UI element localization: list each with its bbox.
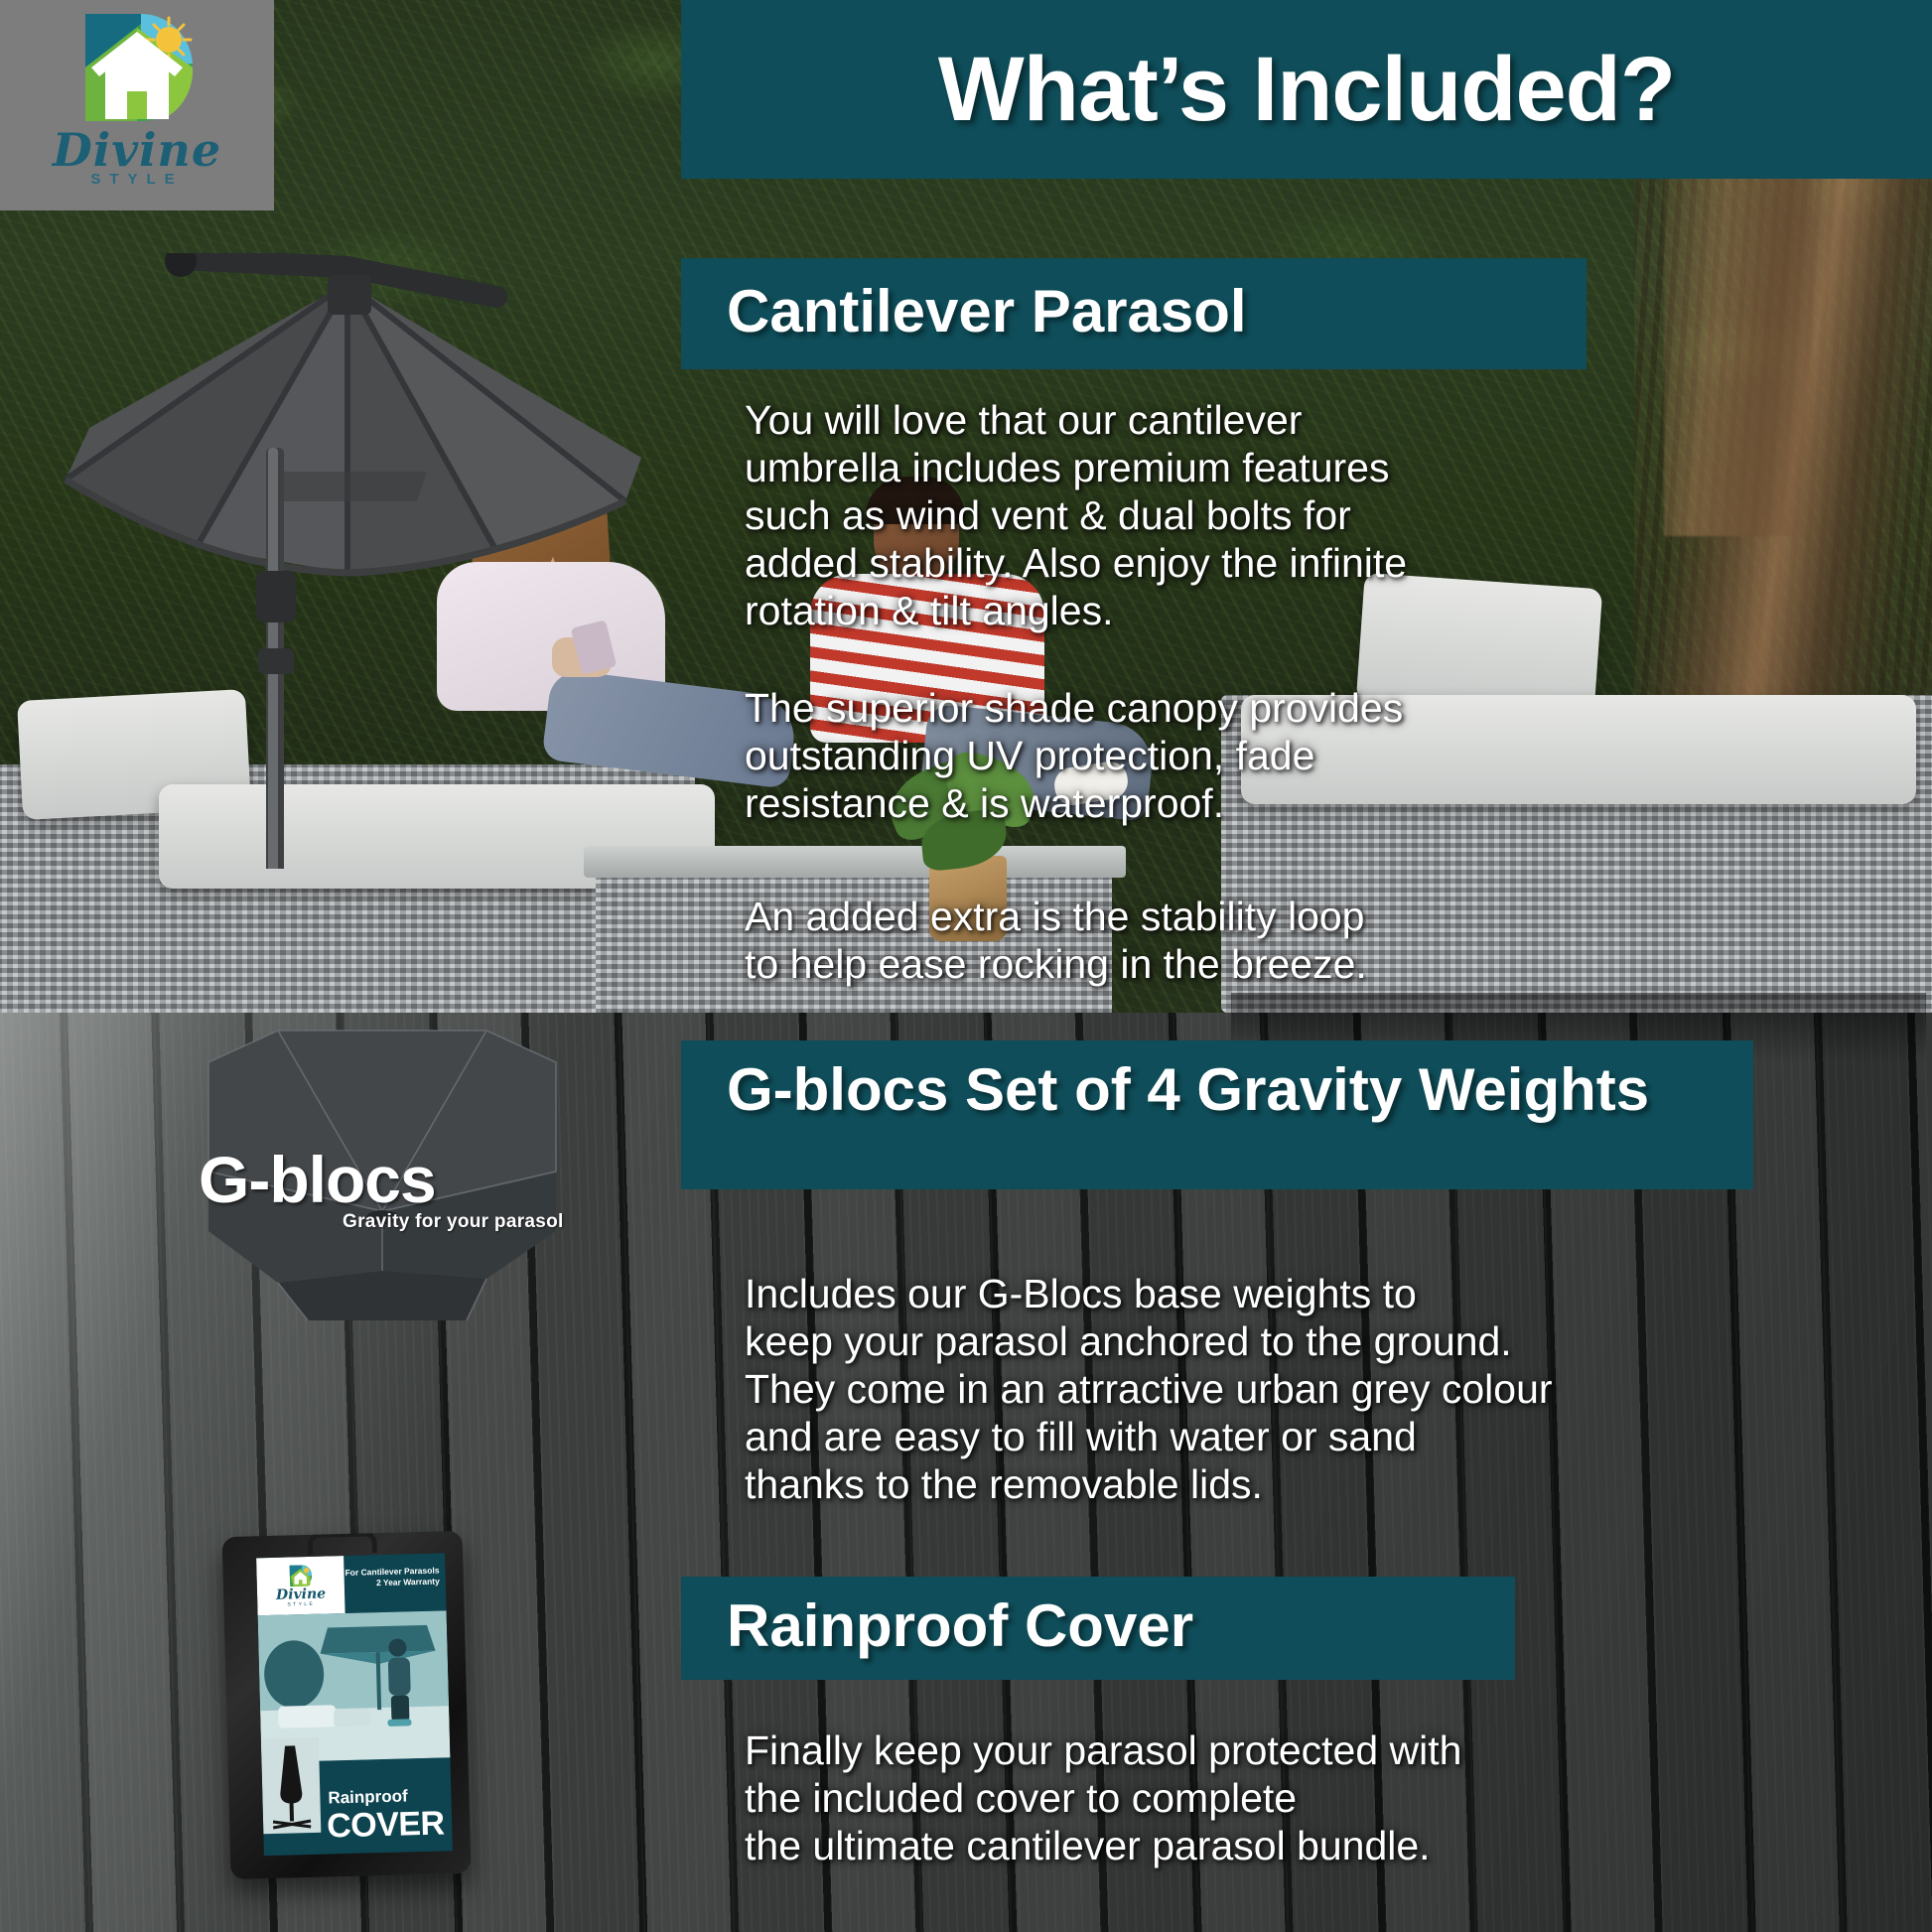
section-body-cantilever-parasol-p1: You will love that our cantilever umbrel… [745, 397, 1797, 635]
brand-logo-block: Divine STYLE [0, 0, 274, 210]
section-body-cantilever-parasol-p3: An added extra is the stability loop to … [745, 894, 1797, 989]
section-heading-g-blocs: G-blocs Set of 4 Gravity Weights [681, 1040, 1753, 1189]
page-title: What’s Included? [938, 38, 1675, 142]
rainproof-cover-bag-product: Divine STYLE For Cantilever Parasols 2 Y… [222, 1531, 472, 1879]
g-blocs-gravity-weights-product: G-blocs Gravity for your parasol [129, 1023, 635, 1360]
bag-brand-logo: Divine STYLE [256, 1556, 345, 1615]
divine-d-icon-small [286, 1564, 315, 1588]
section-heading-text: G-blocs Set of 4 Gravity Weights [727, 1058, 1649, 1123]
section-heading-rainproof-cover: Rainproof Cover [681, 1577, 1515, 1680]
bag-label-large: COVER [327, 1804, 445, 1846]
section-heading-text: Rainproof Cover [727, 1594, 1193, 1659]
title-band: What’s Included? [681, 0, 1932, 179]
bag-label: Divine STYLE For Cantilever Parasols 2 Y… [256, 1553, 453, 1856]
bag-brand-tagline: STYLE [287, 1601, 315, 1608]
parasol-canopy-svg [30, 253, 685, 869]
bag-warranty-text: For Cantilever Parasols 2 Year Warranty [345, 1566, 439, 1589]
bag-handle [307, 1531, 377, 1555]
section-heading-cantilever-parasol: Cantilever Parasol [681, 258, 1587, 369]
bag-cover-thumbnail [261, 1737, 321, 1834]
infographic-page: G-blocs Gravity for your parasol Divine … [0, 0, 1932, 1932]
bag-brand-name: Divine [276, 1587, 326, 1602]
g-blocs-logo-text: G-blocs [199, 1142, 526, 1217]
section-body-rainproof-cover: Finally keep your parasol protected with… [745, 1727, 1886, 1870]
brand-tagline: STYLE [90, 171, 183, 188]
section-body-cantilever-parasol-p2: The superior shade canopy provides outst… [745, 685, 1797, 828]
divine-style-house-d-logo-icon [71, 10, 203, 131]
cantilever-parasol-product [30, 253, 685, 849]
g-blocs-logo-tagline: Gravity for your parasol [343, 1211, 564, 1233]
section-heading-text: Cantilever Parasol [727, 280, 1247, 345]
brand-name: Divine [53, 127, 221, 173]
cover-silhouette-icon [267, 1743, 315, 1834]
section-body-g-blocs: Includes our G-Blocs base weights to kee… [745, 1271, 1886, 1509]
